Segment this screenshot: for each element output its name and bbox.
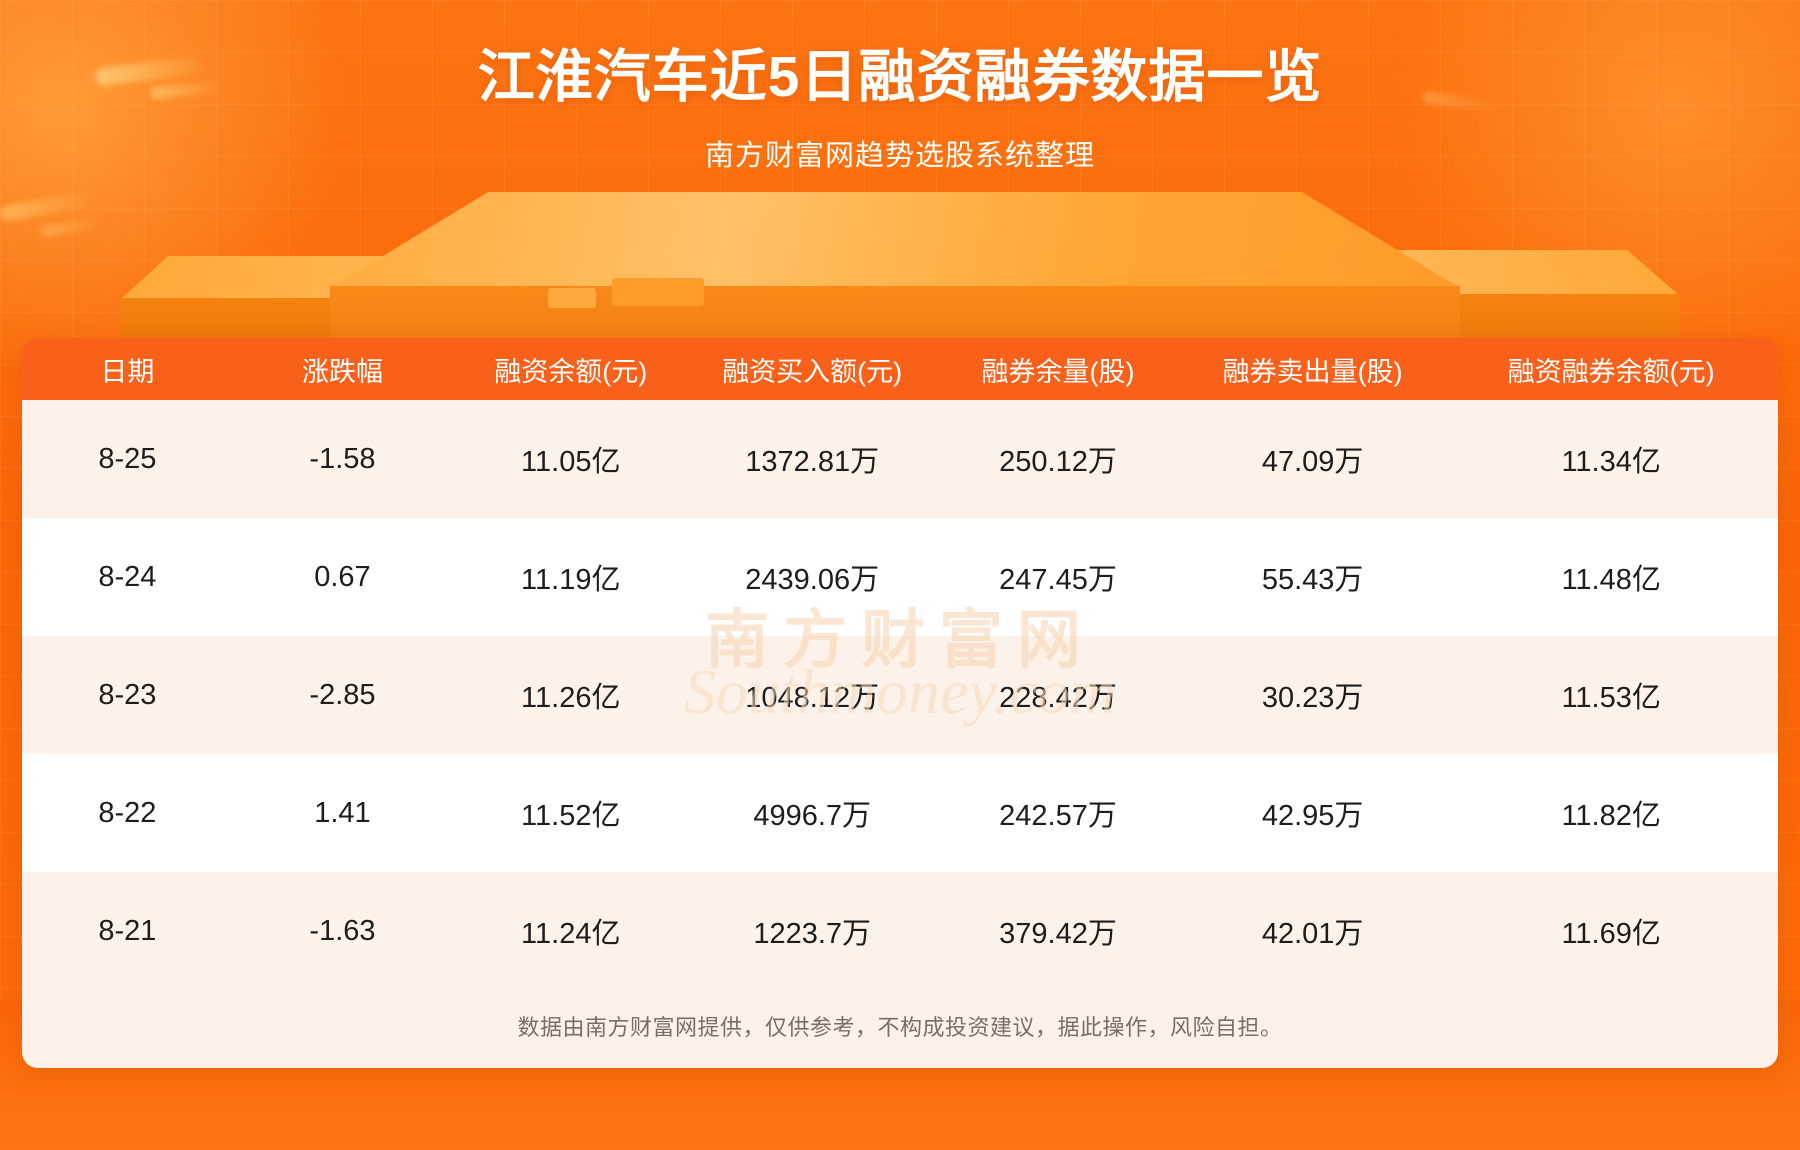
column-header-securities-balance[interactable]: 融券余量(股) — [935, 338, 1181, 400]
cell-securities-sell: 42.95万 — [1181, 754, 1444, 872]
page-title: 江淮汽车近5日融资融券数据一览 — [0, 46, 1800, 110]
cell-securities-balance: 250.12万 — [935, 400, 1181, 518]
cell-financing-balance: 11.24亿 — [452, 872, 689, 990]
cell-financing-buy: 1372.81万 — [689, 400, 935, 518]
podium-notch-small — [548, 288, 596, 308]
column-header-financing-balance[interactable]: 融资余额(元) — [452, 338, 689, 400]
cell-change-pct: 0.67 — [233, 518, 453, 636]
column-header-securities-sell[interactable]: 融券卖出量(股) — [1181, 338, 1444, 400]
cell-change-pct: -2.85 — [233, 636, 453, 754]
cell-securities-sell: 42.01万 — [1181, 872, 1444, 990]
cell-financing-buy: 1223.7万 — [689, 872, 935, 990]
cell-financing-buy: 2439.06万 — [689, 518, 935, 636]
column-header-change-pct[interactable]: 涨跌幅 — [233, 338, 453, 400]
cell-date: 8-25 — [22, 400, 233, 518]
cell-securities-balance: 228.42万 — [935, 636, 1181, 754]
cell-date: 8-24 — [22, 518, 233, 636]
cell-financing-balance: 11.26亿 — [452, 636, 689, 754]
podium-center-top — [330, 192, 1460, 288]
column-header-total-balance[interactable]: 融资融券余额(元) — [1444, 338, 1778, 400]
cell-change-pct: -1.58 — [233, 400, 453, 518]
table-row[interactable]: 8-22 1.41 11.52亿 4996.7万 242.57万 42.95万 … — [22, 754, 1778, 872]
margin-trading-table: 日期 涨跌幅 融资余额(元) 融资买入额(元) 融券余量(股) 融券卖出量(股)… — [22, 338, 1778, 990]
table-row[interactable]: 8-24 0.67 11.19亿 2439.06万 247.45万 55.43万… — [22, 518, 1778, 636]
header: 江淮汽车近5日融资融券数据一览 南方财富网趋势选股系统整理 — [0, 0, 1800, 174]
table-row[interactable]: 8-21 -1.63 11.24亿 1223.7万 379.42万 42.01万… — [22, 872, 1778, 990]
table-header: 日期 涨跌幅 融资余额(元) 融资买入额(元) 融券余量(股) 融券卖出量(股)… — [22, 338, 1778, 400]
cell-financing-balance: 11.19亿 — [452, 518, 689, 636]
cell-securities-sell: 47.09万 — [1181, 400, 1444, 518]
table-header-row: 日期 涨跌幅 融资余额(元) 融资买入额(元) 融券余量(股) 融券卖出量(股)… — [22, 338, 1778, 400]
cell-change-pct: -1.63 — [233, 872, 453, 990]
column-header-date[interactable]: 日期 — [22, 338, 233, 400]
cell-total-balance: 11.82亿 — [1444, 754, 1778, 872]
page-subtitle: 南方财富网趋势选股系统整理 — [0, 132, 1800, 174]
data-table-card: 南方财富网 Southmoney.com 日期 涨跌幅 融资余额(元) 融资买入… — [22, 338, 1778, 1068]
cell-date: 8-21 — [22, 872, 233, 990]
cell-total-balance: 11.48亿 — [1444, 518, 1778, 636]
cell-financing-balance: 11.05亿 — [452, 400, 689, 518]
cell-total-balance: 11.69亿 — [1444, 872, 1778, 990]
cell-financing-buy: 1048.12万 — [689, 636, 935, 754]
table-body: 8-25 -1.58 11.05亿 1372.81万 250.12万 47.09… — [22, 400, 1778, 990]
disclaimer-text: 数据由南方财富网提供，仅供参考，不构成投资建议，据此操作，风险自担。 — [22, 990, 1778, 1068]
podium-notch — [612, 278, 704, 306]
cell-financing-buy: 4996.7万 — [689, 754, 935, 872]
cell-total-balance: 11.34亿 — [1444, 400, 1778, 518]
cell-securities-sell: 30.23万 — [1181, 636, 1444, 754]
cell-change-pct: 1.41 — [233, 754, 453, 872]
cell-total-balance: 11.53亿 — [1444, 636, 1778, 754]
cell-securities-sell: 55.43万 — [1181, 518, 1444, 636]
table-row[interactable]: 8-23 -2.85 11.26亿 1048.12万 228.42万 30.23… — [22, 636, 1778, 754]
podium-graphic — [0, 180, 1800, 360]
column-header-financing-buy[interactable]: 融资买入额(元) — [689, 338, 935, 400]
cell-securities-balance: 247.45万 — [935, 518, 1181, 636]
cell-securities-balance: 242.57万 — [935, 754, 1181, 872]
cell-date: 8-22 — [22, 754, 233, 872]
table-row[interactable]: 8-25 -1.58 11.05亿 1372.81万 250.12万 47.09… — [22, 400, 1778, 518]
cell-date: 8-23 — [22, 636, 233, 754]
cell-financing-balance: 11.52亿 — [452, 754, 689, 872]
cell-securities-balance: 379.42万 — [935, 872, 1181, 990]
